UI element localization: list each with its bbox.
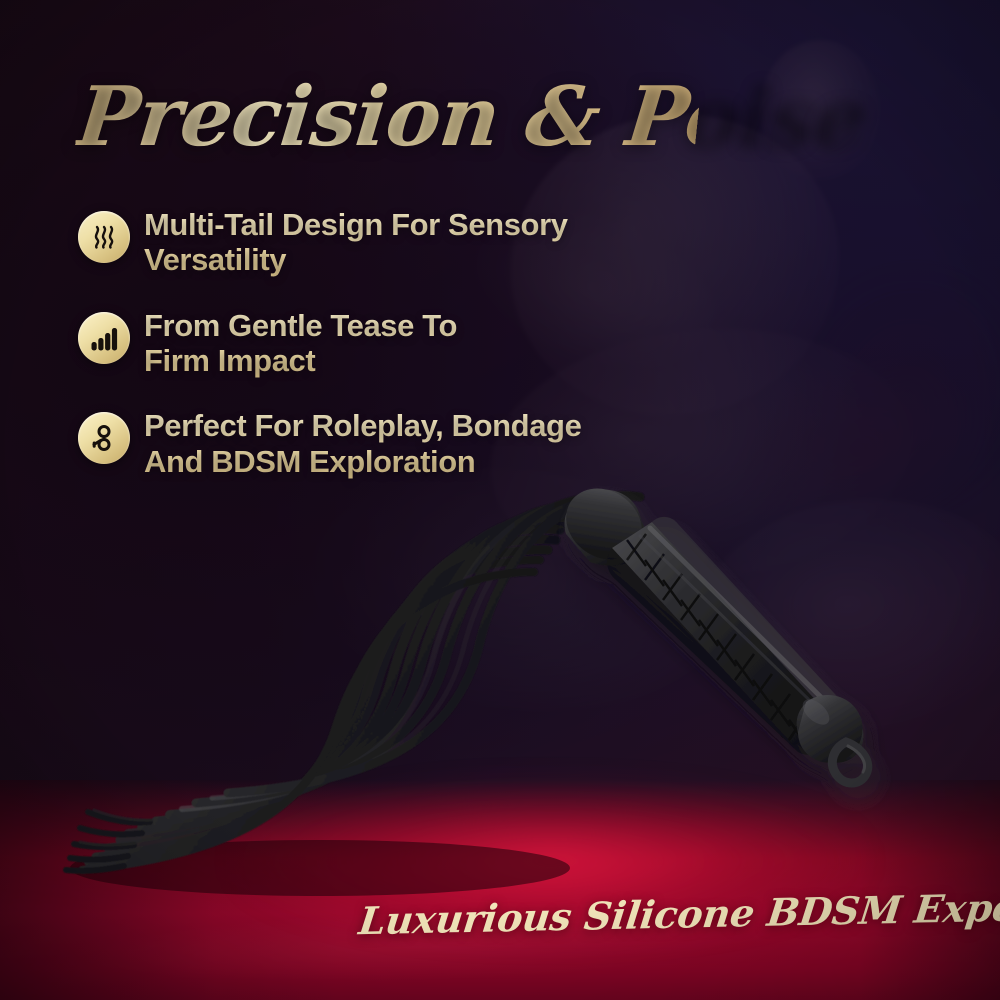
page-title: Precision & Poise bbox=[74, 76, 703, 160]
feature-item-roleplay: Perfect For Roleplay, Bondage And BDSM E… bbox=[78, 406, 678, 479]
feature-line: Versatility bbox=[144, 242, 568, 277]
feature-line: Firm Impact bbox=[144, 343, 457, 378]
feature-line: Multi-Tail Design For Sensory bbox=[144, 207, 568, 242]
surface-shadow-left bbox=[0, 780, 340, 1000]
feature-item-intensity: From Gentle Tease To Firm Impact bbox=[78, 306, 678, 379]
feature-text-roleplay: Perfect For Roleplay, Bondage And BDSM E… bbox=[144, 406, 581, 479]
feature-line: Perfect For Roleplay, Bondage bbox=[144, 408, 581, 443]
ascending-bars-icon bbox=[78, 312, 130, 364]
feature-text-intensity: From Gentle Tease To Firm Impact bbox=[144, 306, 457, 379]
feature-list: Multi-Tail Design For Sensory Versatilit… bbox=[78, 205, 678, 507]
feature-line: And BDSM Exploration bbox=[144, 444, 581, 479]
feature-item-multi-tail: Multi-Tail Design For Sensory Versatilit… bbox=[78, 205, 678, 278]
feature-line: From Gentle Tease To bbox=[144, 308, 457, 343]
wavy-tails-icon bbox=[78, 211, 130, 263]
feature-text-multi-tail: Multi-Tail Design For Sensory Versatilit… bbox=[144, 205, 568, 278]
handcuffs-icon bbox=[78, 412, 130, 464]
promo-banner: Precision & Poise Multi-Tail Design For … bbox=[0, 0, 1000, 1000]
